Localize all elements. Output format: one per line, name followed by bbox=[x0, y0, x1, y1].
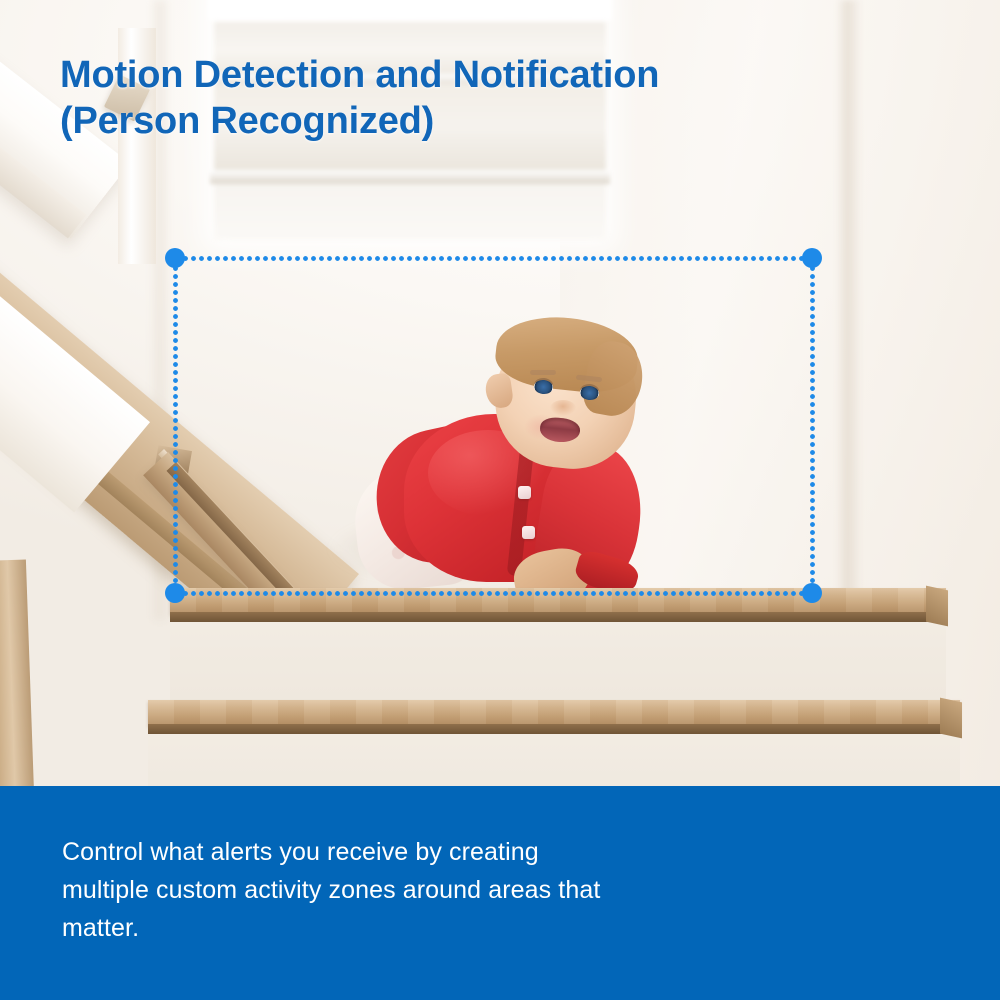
promo-page: Motion Detection and Notification (Perso… bbox=[0, 0, 1000, 1000]
page-title: Motion Detection and Notification (Perso… bbox=[60, 52, 860, 145]
stair-riser bbox=[148, 734, 960, 786]
baby-cardigan-button bbox=[518, 486, 531, 499]
baby-cardigan-button bbox=[522, 526, 535, 539]
banner-line-1: Control what alerts you receive by creat… bbox=[62, 833, 742, 871]
baby-ear bbox=[484, 372, 514, 409]
stair-tread-lower bbox=[148, 700, 960, 786]
baby-subject bbox=[318, 318, 648, 603]
banner-line-2: multiple custom activity zones around ar… bbox=[62, 871, 742, 909]
window-sill bbox=[210, 170, 610, 184]
baby-eyebrow-left bbox=[530, 370, 556, 375]
page-title-line-1: Motion Detection and Notification bbox=[60, 52, 860, 98]
camera-scene-photo: Motion Detection and Notification (Perso… bbox=[0, 0, 1000, 786]
tread-nosing-shadow bbox=[170, 612, 946, 622]
banner-description: Control what alerts you receive by creat… bbox=[62, 833, 742, 947]
baby-nose bbox=[550, 400, 576, 416]
tread-nosing-wood bbox=[170, 588, 946, 614]
bottom-banner: Control what alerts you receive by creat… bbox=[0, 786, 1000, 1000]
tread-nosing-shadow bbox=[148, 724, 960, 734]
tread-nosing-wood bbox=[148, 700, 960, 726]
tread-end-cap bbox=[940, 698, 962, 739]
tread-end-cap bbox=[926, 586, 948, 627]
page-title-line-2: (Person Recognized) bbox=[60, 98, 860, 144]
banner-line-3: matter. bbox=[62, 909, 742, 947]
window-valance bbox=[208, 0, 612, 20]
